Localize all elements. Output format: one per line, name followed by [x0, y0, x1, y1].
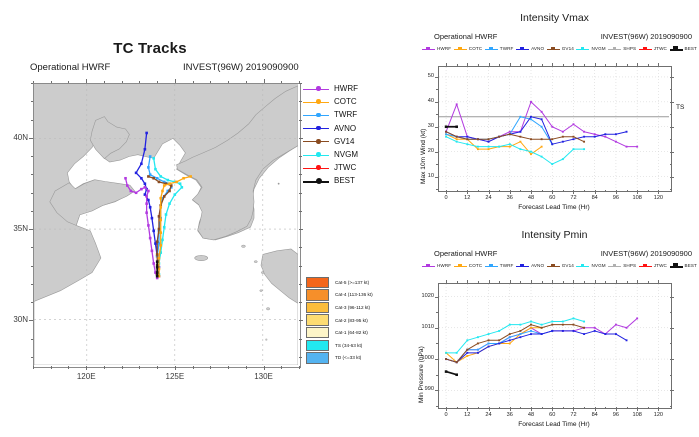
legend-label: JTWC — [654, 263, 667, 268]
legend-item-avno[interactable]: AVNO — [516, 263, 544, 268]
x-tick — [648, 407, 649, 409]
x-tick — [627, 281, 628, 283]
pmin-plot-canvas — [439, 284, 669, 406]
x-tick — [627, 64, 628, 66]
legend-item-twrf[interactable]: TWRF — [303, 108, 373, 121]
x-tick — [499, 64, 500, 66]
x-tick — [648, 190, 649, 192]
x-tick — [478, 281, 479, 283]
y-tick-label: 40 — [413, 98, 434, 104]
map-lon-label: 130E — [250, 372, 278, 381]
map-lon-tick — [193, 366, 194, 369]
x-tick — [584, 281, 585, 283]
x-tick — [658, 190, 659, 194]
x-tick — [573, 407, 574, 411]
map-lon-tick — [264, 79, 265, 83]
y-tick — [435, 328, 439, 329]
legend-label: HWRF — [334, 84, 358, 93]
series-twrf — [445, 116, 553, 145]
vmax-title: Intensity Vmax — [410, 12, 699, 24]
y-tick — [670, 114, 672, 115]
legend-marker — [643, 264, 647, 268]
category-legend-item: Cat-3 (96-112 kt) — [306, 301, 402, 314]
legend-item-best[interactable]: BEST — [670, 46, 697, 51]
legend-marker — [520, 264, 524, 268]
x-tick — [595, 63, 596, 67]
x-tick — [531, 190, 532, 194]
x-tick — [605, 407, 606, 409]
x-tick — [648, 64, 649, 66]
map-lat-tick — [31, 357, 34, 358]
category-color-swatch — [306, 327, 329, 338]
pmin-title: Intensity Pmin — [410, 229, 699, 241]
map-lon-tick — [228, 366, 229, 369]
x-tick — [605, 190, 606, 192]
category-legend-item: TS (34-63 kt) — [306, 339, 402, 352]
category-legend-item: Cat-4 (113-136 kt) — [306, 289, 402, 302]
map-lat-tick — [31, 211, 34, 212]
legend-marker — [613, 47, 617, 51]
y-tick — [670, 89, 672, 90]
map-lat-tick — [31, 193, 34, 194]
legend-label: COTC — [469, 46, 482, 51]
legend-marker — [316, 86, 321, 91]
x-tick — [520, 407, 521, 409]
map-lon-tick — [104, 366, 105, 369]
y-tick — [670, 406, 672, 407]
series-avno — [445, 116, 627, 145]
legend-label: HWRF — [437, 46, 451, 51]
x-tick — [616, 190, 617, 194]
legend-marker — [316, 113, 321, 118]
map-lon-tick — [264, 366, 265, 370]
map-lat-tick — [31, 101, 34, 102]
legend-item-gv14[interactable]: GV14 — [547, 46, 574, 51]
legend-marker — [581, 47, 585, 51]
map-lon-tick — [175, 366, 176, 370]
x-tick — [499, 407, 500, 409]
map-lat-tick — [31, 120, 34, 121]
map-lat-tick — [299, 101, 302, 102]
x-tick — [542, 281, 543, 283]
legend-marker — [551, 264, 555, 268]
legend-item-hwrf[interactable]: HWRF — [303, 82, 373, 95]
x-tick-label: 36 — [500, 195, 520, 201]
map-lon-tick — [246, 81, 247, 84]
x-tick — [605, 281, 606, 283]
x-tick — [595, 407, 596, 411]
category-legend-item: Cat-2 (83-95 kt) — [306, 314, 402, 327]
map-lat-tick — [31, 247, 34, 248]
category-legend-label: TS (34-63 kt) — [335, 343, 362, 348]
legend-marker — [316, 139, 321, 144]
x-tick-label: 60 — [542, 412, 562, 418]
map-lon-tick — [68, 366, 69, 369]
x-tick-label: 24 — [479, 412, 499, 418]
x-tick — [510, 63, 511, 67]
map-lat-tick — [31, 266, 34, 267]
y-tick — [436, 139, 438, 140]
x-tick — [478, 407, 479, 409]
x-tick — [563, 407, 564, 409]
x-tick — [446, 190, 447, 194]
legend-label: AVNO — [334, 124, 356, 133]
x-tick — [510, 190, 511, 194]
vmax-legend: HWRFCOTCTWRFAVNOGV14NVGMSHPSJTWCBEST — [422, 46, 697, 51]
map-lon-tick — [299, 366, 300, 369]
x-tick — [446, 280, 447, 284]
x-tick — [467, 407, 468, 411]
map-lon-tick — [157, 366, 158, 369]
map-lat-tick — [299, 174, 302, 175]
x-tick — [637, 190, 638, 194]
legend-item-jtwc[interactable]: JTWC — [639, 46, 667, 51]
map-lat-tick — [31, 174, 34, 175]
legend-item-gv14[interactable]: GV14 — [547, 263, 574, 268]
map-lon-tick — [193, 81, 194, 84]
legend-marker — [316, 152, 321, 157]
legend-item-hwrf[interactable]: HWRF — [422, 46, 451, 51]
x-tick — [563, 64, 564, 66]
category-legend-label: Cat-2 (83-95 kt) — [335, 318, 368, 323]
y-tick — [670, 139, 672, 140]
x-tick-label: 84 — [585, 412, 605, 418]
map-lon-label: 120E — [72, 372, 100, 381]
x-tick — [552, 63, 553, 67]
map-lat-tick — [299, 156, 302, 157]
map-lat-tick — [299, 357, 302, 358]
legend-marker — [581, 264, 585, 268]
y-tick — [670, 152, 674, 153]
map-lat-tick — [31, 284, 34, 285]
map-lon-tick — [157, 81, 158, 84]
series-gv14 — [445, 324, 585, 363]
x-tick — [499, 281, 500, 283]
map-lat-label: 40N — [8, 133, 28, 142]
x-tick — [499, 190, 500, 192]
legend-label: NVGM — [334, 150, 358, 159]
pmin-sub-right: INVEST(96W) 2019090900 — [601, 249, 692, 258]
map-lat-tick — [299, 284, 302, 285]
legend-label: COTC — [469, 263, 482, 268]
x-tick — [658, 407, 659, 411]
map-subtitle-left: Operational HWRF — [30, 62, 110, 73]
x-tick — [552, 190, 553, 194]
y-tick — [670, 77, 674, 78]
x-tick-label: 84 — [585, 195, 605, 201]
y-tick — [436, 189, 438, 190]
map-lat-tick — [29, 138, 33, 139]
map-lon-tick — [51, 366, 52, 369]
x-tick-label: 48 — [521, 412, 541, 418]
legend-marker — [316, 178, 322, 184]
map-lat-tick — [31, 156, 34, 157]
map-lon-tick — [210, 81, 211, 84]
y-tick — [436, 312, 438, 313]
x-tick — [552, 407, 553, 411]
y-tick — [436, 164, 438, 165]
x-tick — [616, 63, 617, 67]
legend-marker — [316, 126, 321, 131]
legend-label: JTWC — [334, 163, 356, 172]
track-model-legend: HWRFCOTCTWRFAVNOGV14NVGMJTWCBEST — [303, 82, 373, 188]
x-tick — [658, 280, 659, 284]
x-tick — [627, 190, 628, 192]
pmin-plot-area[interactable] — [438, 283, 672, 409]
legend-marker — [426, 47, 430, 51]
x-tick — [531, 280, 532, 284]
vmax-yaxis-title: Max 10m Wind (kt) — [420, 129, 427, 184]
y-tick-label: 1010 — [413, 324, 434, 330]
map-lon-tick — [33, 366, 34, 369]
track-map[interactable] — [33, 83, 301, 368]
map-lat-tick — [31, 302, 34, 303]
legend-marker — [673, 263, 678, 268]
category-color-swatch — [306, 277, 329, 288]
map-lat-tick — [29, 229, 33, 230]
map-lon-tick — [68, 81, 69, 84]
map-lat-tick — [299, 266, 302, 267]
x-tick-label: 12 — [457, 195, 477, 201]
x-tick-label: 96 — [606, 412, 626, 418]
map-lon-tick — [281, 366, 282, 369]
y-tick — [670, 102, 674, 103]
x-tick-label: 108 — [627, 412, 647, 418]
legend-label: COTC — [334, 97, 357, 106]
legend-item-cotc[interactable]: COTC — [454, 46, 482, 51]
map-subtitle-right: INVEST(96W) 2019090900 — [183, 62, 299, 73]
x-tick — [563, 281, 564, 283]
map-lon-tick — [281, 81, 282, 84]
map-lon-tick — [86, 366, 87, 370]
legend-item-avno[interactable]: AVNO — [516, 46, 544, 51]
legend-marker — [673, 46, 678, 51]
category-legend-label: Cat-4 (113-136 kt) — [335, 292, 373, 297]
pmin-chart-panel: Intensity Pmin Operational HWRF INVEST(9… — [410, 225, 699, 437]
legend-marker — [489, 264, 493, 268]
category-color-legend: Cat-5 (>=137 kt)Cat-4 (113-136 kt)Cat-3 … — [306, 276, 402, 364]
x-tick — [489, 63, 490, 67]
x-tick — [457, 407, 458, 409]
map-lat-tick — [299, 320, 303, 321]
legend-label: BEST — [685, 263, 697, 268]
legend-label: AVNO — [531, 263, 544, 268]
x-tick — [584, 407, 585, 409]
legend-item-jtwc[interactable]: JTWC — [639, 263, 667, 268]
x-tick — [563, 190, 564, 192]
x-tick — [584, 64, 585, 66]
x-tick — [478, 190, 479, 192]
x-tick-label: 36 — [500, 412, 520, 418]
category-color-swatch — [306, 302, 329, 313]
legend-item-best[interactable]: BEST — [670, 263, 697, 268]
y-tick — [670, 127, 674, 128]
category-color-swatch — [306, 340, 329, 351]
legend-marker — [458, 264, 462, 268]
series-nvgm — [445, 136, 585, 165]
legend-item-nvgm[interactable]: NVGM — [576, 46, 605, 51]
map-lat-tick — [31, 339, 34, 340]
legend-item-nvgm[interactable]: NVGM — [303, 148, 373, 161]
pmin-yaxis-title: Min Pressure (hPa) — [418, 346, 425, 403]
category-legend-label: Cat-1 (64-82 kt) — [335, 330, 368, 335]
map-lon-tick — [175, 79, 176, 83]
map-lat-tick — [299, 247, 302, 248]
category-legend-label: Cat-5 (>=137 kt) — [335, 280, 369, 285]
x-tick-label: 72 — [563, 195, 583, 201]
legend-item-jtwc[interactable]: JTWC — [303, 161, 373, 174]
map-lat-tick — [299, 83, 302, 84]
ts-threshold-label: TS — [676, 104, 684, 111]
x-tick — [457, 64, 458, 66]
map-lat-tick — [299, 302, 302, 303]
map-canvas — [34, 84, 298, 365]
legend-label: BEST — [685, 46, 697, 51]
x-tick — [637, 280, 638, 284]
x-tick — [573, 190, 574, 194]
x-tick — [478, 64, 479, 66]
x-tick — [467, 63, 468, 67]
x-tick-label: 120 — [648, 412, 668, 418]
y-tick — [670, 328, 674, 329]
legend-label: GV14 — [562, 46, 574, 51]
y-tick — [435, 152, 439, 153]
x-tick — [595, 190, 596, 194]
legend-item-gv14[interactable]: GV14 — [303, 135, 373, 148]
page-title: TC Tracks — [0, 40, 300, 57]
x-tick — [520, 281, 521, 283]
x-tick — [637, 63, 638, 67]
series-best — [445, 370, 458, 376]
y-tick — [436, 89, 438, 90]
x-tick — [595, 280, 596, 284]
map-lon-tick — [122, 81, 123, 84]
vmax-plot-area[interactable] — [438, 66, 672, 192]
map-lon-label: 125E — [161, 372, 189, 381]
x-tick — [446, 407, 447, 411]
series-best — [445, 125, 458, 128]
x-tick — [446, 63, 447, 67]
map-lon-tick — [210, 366, 211, 369]
y-tick — [435, 297, 439, 298]
x-tick — [627, 407, 628, 409]
x-tick — [531, 407, 532, 411]
y-tick — [670, 297, 674, 298]
map-lon-tick — [228, 81, 229, 84]
map-lat-tick — [299, 229, 303, 230]
x-tick — [616, 407, 617, 411]
map-lon-tick — [139, 81, 140, 84]
category-legend-item: Cat-5 (>=137 kt) — [306, 276, 402, 289]
map-lat-tick — [29, 320, 33, 321]
x-tick — [573, 280, 574, 284]
y-tick — [435, 127, 439, 128]
vmax-sub-right: INVEST(96W) 2019090900 — [601, 32, 692, 41]
legend-item-avno[interactable]: AVNO — [303, 122, 373, 135]
x-tick — [648, 281, 649, 283]
legend-label: NVGM — [591, 46, 605, 51]
x-tick — [489, 280, 490, 284]
tc-tracks-panel: TC Tracks Operational HWRF INVEST(96W) 2… — [0, 0, 410, 437]
y-tick — [435, 390, 439, 391]
x-tick — [467, 280, 468, 284]
legend-item-shps[interactable]: SHPS — [608, 263, 636, 268]
legend-label: SHPS — [623, 46, 636, 51]
category-legend-label: TD (<=33 kt) — [335, 355, 361, 360]
map-lat-tick — [299, 211, 302, 212]
x-tick-label: 108 — [627, 195, 647, 201]
pmin-sub-left: Operational HWRF — [434, 249, 497, 258]
legend-marker — [520, 47, 524, 51]
legend-item-twrf[interactable]: TWRF — [485, 46, 514, 51]
legend-marker — [613, 264, 617, 268]
legend-marker — [458, 47, 462, 51]
y-tick — [670, 312, 672, 313]
x-tick — [542, 190, 543, 192]
vmax-chart-panel: Intensity Vmax Operational HWRF INVEST(9… — [410, 8, 699, 223]
category-legend-item: TD (<=33 kt) — [306, 352, 402, 365]
x-tick-label: 0 — [436, 195, 456, 201]
x-tick — [457, 190, 458, 192]
legend-label: AVNO — [531, 46, 544, 51]
x-tick — [542, 407, 543, 409]
x-tick — [542, 64, 543, 66]
category-legend-label: Cat-3 (96-112 kt) — [335, 305, 370, 310]
map-lat-label: 35N — [8, 224, 28, 233]
y-tick — [670, 189, 672, 190]
x-tick — [520, 64, 521, 66]
legend-marker — [551, 47, 555, 51]
map-lon-tick — [122, 366, 123, 369]
category-color-swatch — [306, 314, 329, 325]
x-tick — [467, 190, 468, 194]
map-lat-tick — [31, 83, 34, 84]
category-color-swatch — [306, 352, 329, 363]
x-tick — [605, 64, 606, 66]
legend-item-best[interactable]: BEST — [303, 174, 373, 187]
legend-item-cotc[interactable]: COTC — [303, 95, 373, 108]
x-tick — [457, 281, 458, 283]
map-lat-tick — [299, 193, 302, 194]
y-tick-label: 1020 — [413, 293, 434, 299]
legend-marker — [316, 165, 321, 170]
legend-label: TWRF — [500, 263, 514, 268]
y-tick — [436, 343, 438, 344]
map-lon-tick — [104, 81, 105, 84]
x-tick — [573, 63, 574, 67]
x-tick — [637, 407, 638, 411]
x-tick — [531, 63, 532, 67]
legend-item-twrf[interactable]: TWRF — [485, 263, 514, 268]
legend-label: HWRF — [437, 263, 451, 268]
x-tick — [489, 407, 490, 411]
y-tick — [670, 164, 672, 165]
legend-label: GV14 — [334, 137, 354, 146]
legend-label: GV14 — [562, 263, 574, 268]
x-tick-label: 0 — [436, 412, 456, 418]
y-tick — [670, 359, 674, 360]
y-tick — [436, 114, 438, 115]
legend-item-hwrf[interactable]: HWRF — [422, 263, 451, 268]
pmin-legend: HWRFCOTCTWRFAVNOGV14NVGMSHPSJTWCBEST — [422, 263, 697, 268]
vmax-sub-left: Operational HWRF — [434, 32, 497, 41]
map-lon-tick — [33, 81, 34, 84]
x-tick — [584, 190, 585, 192]
legend-item-shps[interactable]: SHPS — [608, 46, 636, 51]
legend-item-cotc[interactable]: COTC — [454, 263, 482, 268]
legend-label: TWRF — [500, 46, 514, 51]
legend-item-nvgm[interactable]: NVGM — [576, 263, 605, 268]
